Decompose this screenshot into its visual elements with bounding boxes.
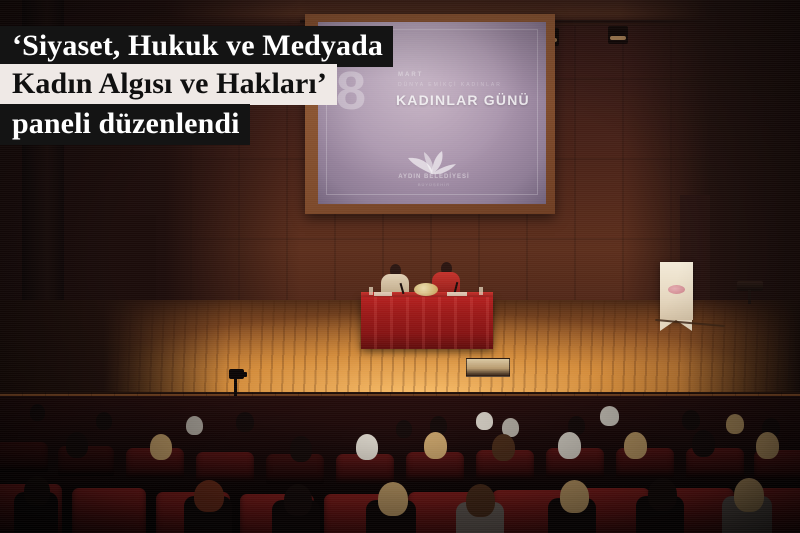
audience-head — [24, 476, 50, 506]
audience-head — [290, 436, 312, 462]
headline-row-3: paneli düzenlendi — [0, 104, 800, 142]
audience-head — [734, 478, 764, 512]
table-papers-right — [447, 292, 467, 296]
headline-row-2: Kadın Algısı ve Hakları’ — [0, 64, 800, 104]
audience-head — [150, 434, 172, 460]
headline-line-3: paneli düzenlendi — [0, 104, 250, 145]
standee-logo-icon — [668, 285, 685, 294]
audience-head — [356, 434, 378, 460]
camera-lens-icon — [241, 372, 247, 377]
headline-line-1: ‘Siyaset, Hukuk ve Medyada — [0, 26, 393, 67]
audience-seating — [0, 396, 800, 533]
floor-monitor-stand — [748, 290, 751, 304]
audience-head — [30, 404, 45, 421]
theater-seat — [72, 488, 146, 533]
water-glass-right — [479, 287, 483, 295]
audience-head — [600, 406, 619, 426]
theater-seat — [0, 442, 48, 472]
audience-head — [624, 432, 647, 459]
audience-head — [66, 432, 88, 458]
headline-overlay: ‘Siyaset, Hukuk ve Medyada Kadın Algısı … — [0, 26, 800, 142]
audience-head — [756, 432, 779, 459]
municipality-leaf-logo-icon — [402, 150, 462, 176]
audience-head — [692, 430, 715, 457]
audience-head — [466, 484, 495, 517]
panel-table-cloth-folds — [361, 297, 493, 349]
news-photo-panel-event: 8 MART DÜNYA EMİKÇİ KADINLAR KADINLAR GÜ… — [0, 0, 800, 533]
audience-head — [284, 484, 312, 516]
flower-arrangement — [414, 283, 438, 296]
slide-logo-name: AYDIN BELEDİYESİ — [388, 174, 480, 180]
audience-head — [424, 432, 447, 459]
theater-seat — [196, 452, 254, 482]
audience-head — [492, 434, 515, 461]
audience-head — [186, 416, 203, 435]
audience-head — [396, 420, 412, 438]
audience-head — [648, 478, 677, 511]
audience-head — [378, 482, 408, 516]
stage-riser-box — [466, 358, 510, 377]
audience-head — [236, 412, 254, 432]
audience-head — [96, 412, 112, 430]
audience-head — [726, 414, 744, 434]
audience-head — [558, 432, 581, 459]
audience-head — [194, 480, 224, 512]
audience-head — [682, 410, 700, 430]
water-glass-left — [369, 287, 373, 295]
table-papers-left — [374, 292, 392, 296]
headline-line-2: Kadın Algısı ve Hakları’ — [0, 64, 337, 105]
headline-row-1: ‘Siyaset, Hukuk ve Medyada — [0, 26, 800, 64]
audience-head — [476, 412, 493, 430]
slide-logo-subtitle: BÜYÜȘEHİR — [388, 182, 480, 187]
audience-head — [560, 480, 589, 513]
